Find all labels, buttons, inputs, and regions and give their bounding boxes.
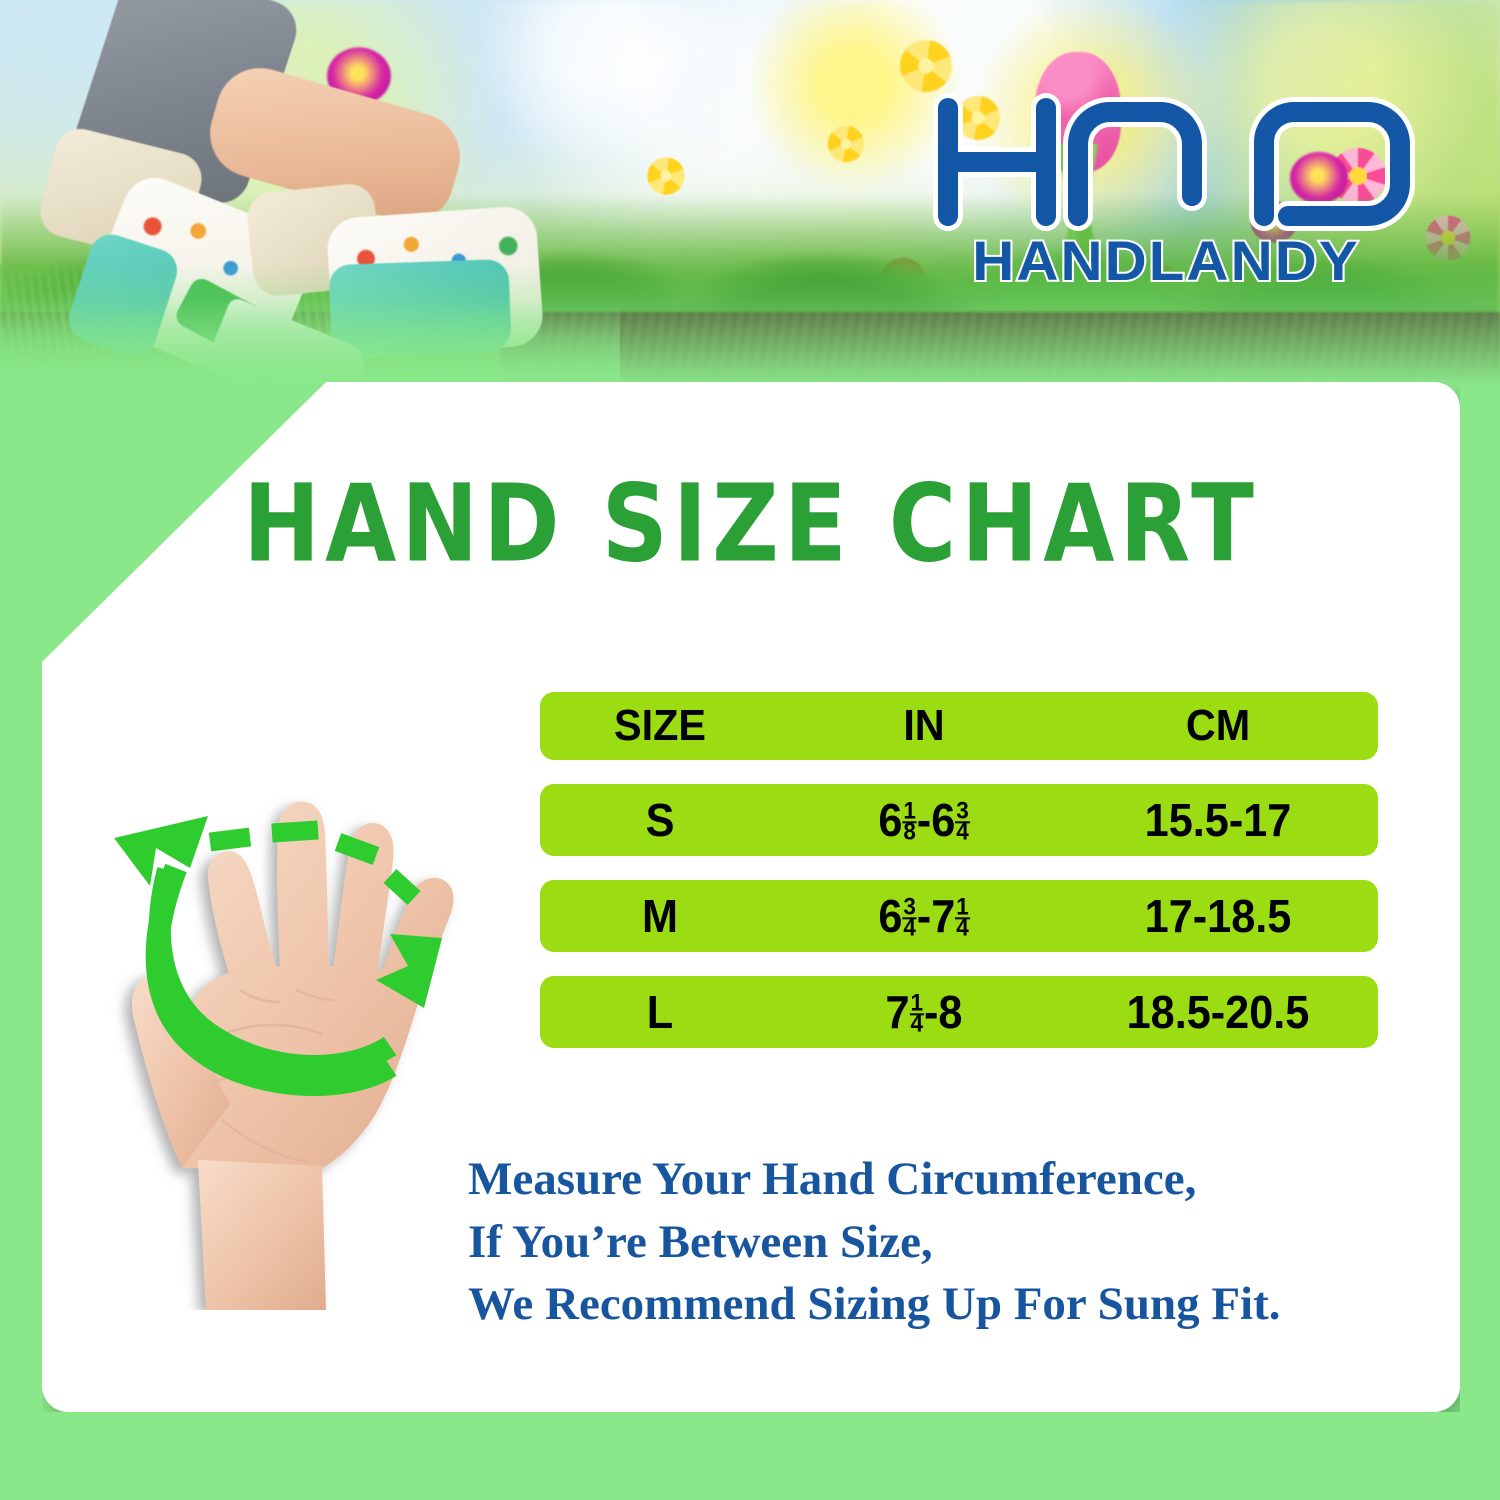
table-row: S 618-634 15.5-17 [540, 784, 1378, 856]
brand-wordmark: HANDLANDY [910, 228, 1422, 293]
size-table: SIZE IN CM S 618-634 15.5-17 M 634-714 1… [540, 692, 1378, 1072]
cell-cm: 15.5-17 [1077, 793, 1359, 847]
hand-measure-illustration [90, 690, 490, 1310]
hld-monogram-icon [928, 92, 1418, 232]
column-header-cm: CM [1077, 701, 1359, 751]
sizing-note-line-2: If You’re Between Size, [468, 1211, 1398, 1274]
column-header-size: SIZE [547, 701, 773, 751]
cell-in: 714-8 [789, 985, 1060, 1039]
yellow-daffodil [828, 126, 864, 162]
cell-size: S [547, 793, 773, 847]
table-row: L 714-8 18.5-20.5 [540, 976, 1378, 1048]
cell-size: L [547, 985, 773, 1039]
sizing-note: Measure Your Hand Circumference, If You’… [468, 1148, 1398, 1336]
brand-logo: HANDLANDY [920, 92, 1420, 292]
cell-cm: 17-18.5 [1077, 889, 1359, 943]
cell-in: 634-714 [789, 889, 1060, 943]
cell-size: M [547, 889, 773, 943]
cell-in: 618-634 [789, 793, 1060, 847]
sizing-note-line-1: Measure Your Hand Circumference, [468, 1148, 1398, 1211]
column-header-in: IN [789, 701, 1060, 751]
page-title: HAND SIZE CHART [42, 462, 1460, 586]
size-chart-infographic: HANDLANDY HAND SIZE CHART [0, 0, 1500, 1500]
table-row: M 634-714 17-18.5 [540, 880, 1378, 952]
yellow-daffodil [647, 157, 684, 194]
cell-cm: 18.5-20.5 [1077, 985, 1359, 1039]
sizing-note-line-3: We Recommend Sizing Up For Sung Fit. [468, 1273, 1398, 1336]
table-header-row: SIZE IN CM [540, 692, 1378, 760]
hand-with-arrow-icon [90, 690, 490, 1310]
yellow-daffodil [900, 40, 952, 92]
